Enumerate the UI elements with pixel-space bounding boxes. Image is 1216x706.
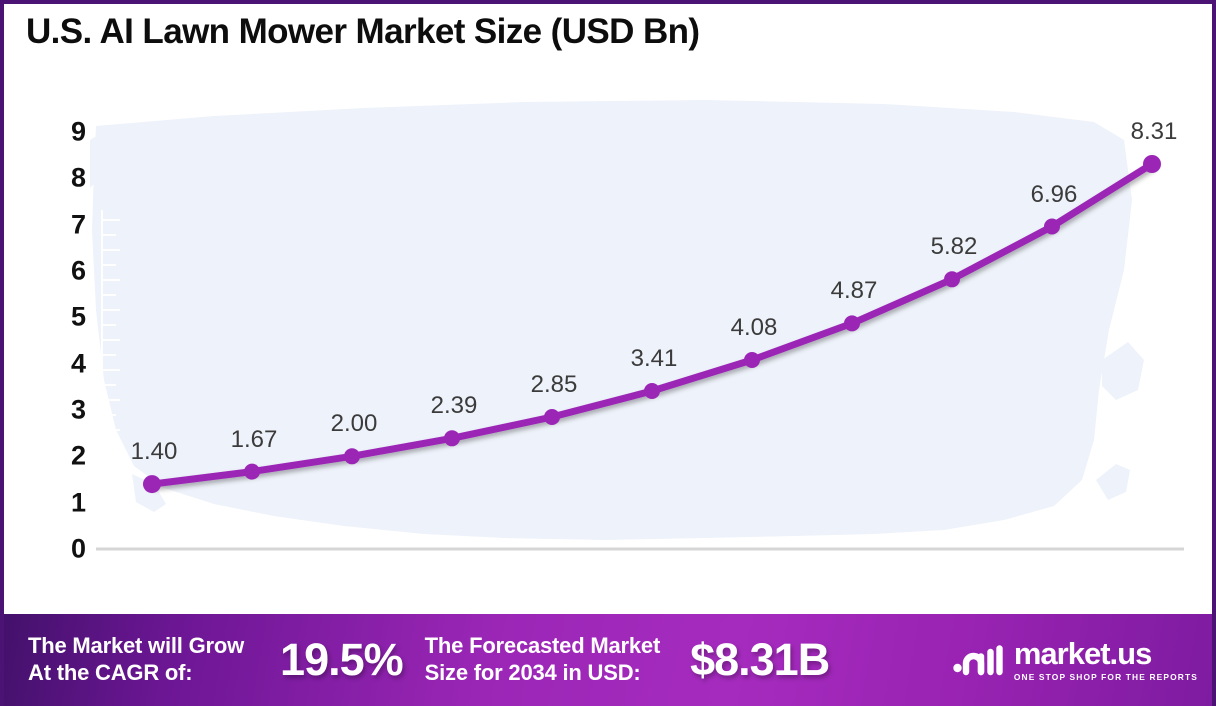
- data-point-marker[interactable]: [744, 352, 760, 368]
- data-point-value-label: 5.82: [894, 233, 1014, 261]
- series-line-chart: [4, 60, 1212, 612]
- data-point-marker[interactable]: [143, 475, 161, 493]
- forecast-value: $8.31B: [690, 634, 829, 686]
- data-point-value-label: 4.87: [794, 277, 914, 305]
- page-title: U.S. AI Lawn Mower Market Size (USD Bn): [26, 12, 699, 52]
- y-axis-tick-label: 3: [46, 395, 86, 426]
- y-axis-tick-label: 9: [46, 117, 86, 148]
- y-axis-tick-label: 1: [46, 487, 86, 518]
- y-axis-tick-label: 7: [46, 209, 86, 240]
- data-point-marker[interactable]: [444, 430, 460, 446]
- market-us-logo-icon: [952, 641, 1004, 679]
- data-point-marker[interactable]: [944, 271, 960, 287]
- y-axis-tick-label: 2: [46, 441, 86, 472]
- data-point-value-label: 2.85: [494, 371, 614, 399]
- y-axis-tick-label: 0: [46, 534, 86, 565]
- forecast-label: The Forecasted Market Size for 2034 in U…: [425, 633, 660, 687]
- brand-tagline: ONE STOP SHOP FOR THE REPORTS: [1014, 672, 1198, 682]
- data-point-marker[interactable]: [644, 383, 660, 399]
- footer-bar: The Market will Grow At the CAGR of: 19.…: [4, 614, 1216, 706]
- data-point-value-label: 6.96: [994, 181, 1114, 209]
- data-point-marker[interactable]: [544, 409, 560, 425]
- brand-name: market.us: [1014, 638, 1151, 669]
- chart-plot-area: 0123456789 20242025202620272028202920302…: [4, 60, 1212, 612]
- y-axis-tick-label: 8: [46, 163, 86, 194]
- brand-logo[interactable]: market.us ONE STOP SHOP FOR THE REPORTS: [952, 638, 1206, 682]
- y-axis-tick-label: 4: [46, 348, 86, 379]
- data-point-value-label: 8.31: [1094, 118, 1214, 146]
- data-point-marker[interactable]: [344, 448, 360, 464]
- data-point-marker[interactable]: [244, 464, 260, 480]
- infographic-root: U.S. AI Lawn Mower Market Size (USD Bn): [0, 0, 1216, 706]
- cagr-value: 19.5%: [280, 634, 403, 686]
- cagr-label: The Market will Grow At the CAGR of:: [28, 633, 244, 687]
- y-axis-tick-label: 6: [46, 256, 86, 287]
- data-point-marker[interactable]: [844, 315, 860, 331]
- y-axis-tick-label: 5: [46, 302, 86, 333]
- data-point-marker[interactable]: [1044, 219, 1060, 235]
- data-point-value-label: 4.08: [694, 314, 814, 342]
- data-point-value-label: 3.41: [594, 345, 714, 373]
- data-point-marker[interactable]: [1143, 155, 1161, 173]
- brand-text-wrap: market.us ONE STOP SHOP FOR THE REPORTS: [1014, 638, 1198, 682]
